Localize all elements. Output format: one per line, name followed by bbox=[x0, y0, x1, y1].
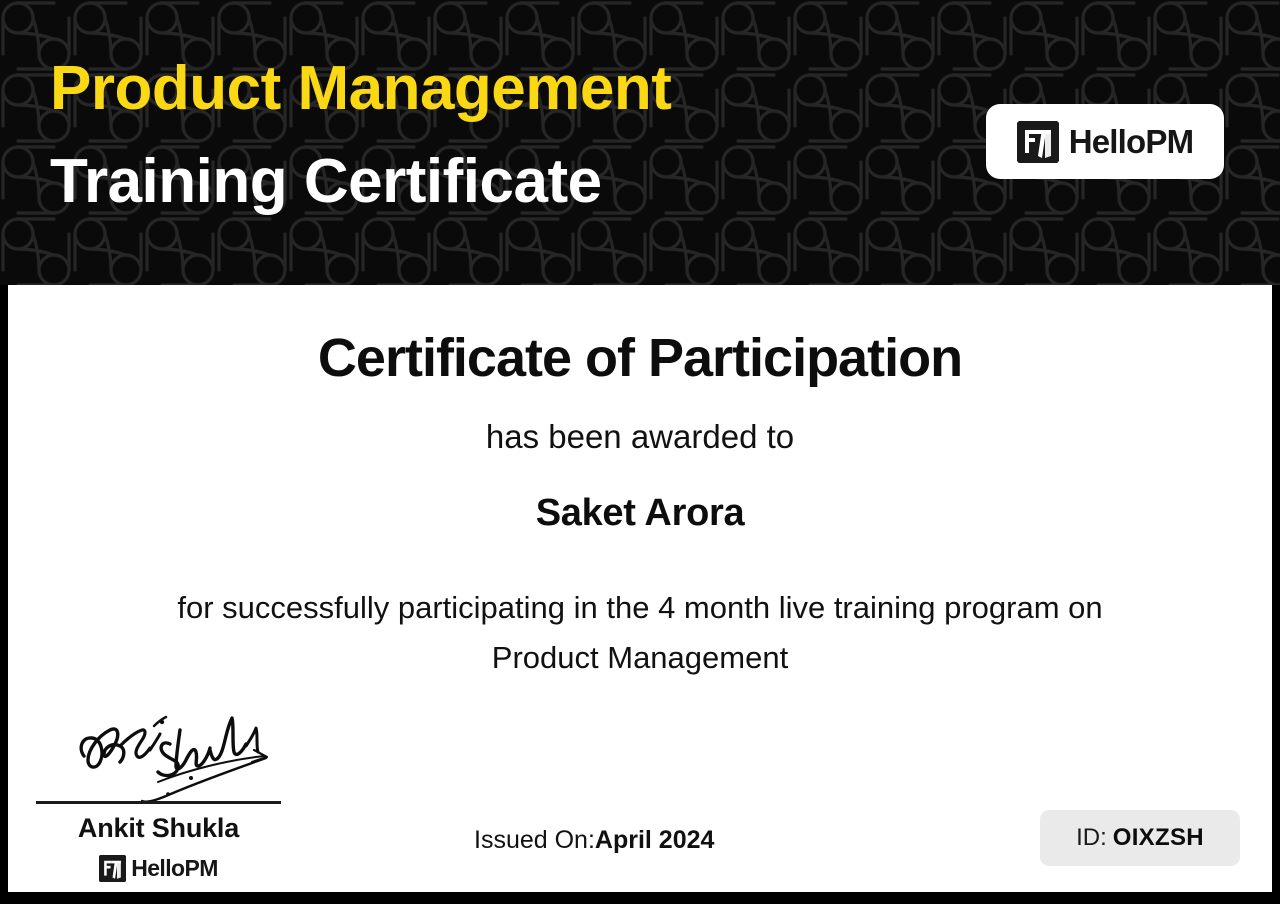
certificate-header: Product Management Training Certificate … bbox=[0, 0, 1280, 285]
certificate-id-value: OIXZSH bbox=[1113, 824, 1204, 852]
page-title: Certificate of Participation bbox=[8, 327, 1272, 389]
certificate-container: Product Management Training Certificate … bbox=[0, 0, 1280, 904]
handwritten-signature-icon bbox=[58, 704, 278, 804]
certificate-title: Product Management Training Certificate bbox=[50, 56, 671, 214]
hellopm-logo-mark-icon bbox=[1017, 121, 1059, 163]
certificate-description: for successfully participating in the 4 … bbox=[8, 583, 1272, 683]
signatory-name: Ankit Shukla bbox=[36, 813, 281, 844]
signature-brand-logo: HelloPM bbox=[36, 855, 281, 882]
issued-on-block: Issued On:April 2024 bbox=[474, 826, 714, 855]
certificate-id-label: ID: bbox=[1076, 824, 1107, 852]
title-line-training-certificate: Training Certificate bbox=[50, 149, 671, 214]
brand-logo-badge: HelloPM bbox=[986, 104, 1224, 179]
hellopm-logo-mark-icon bbox=[99, 855, 126, 882]
issued-on-label: Issued On: bbox=[474, 826, 595, 854]
signature-brand-name: HelloPM bbox=[131, 857, 218, 880]
awarded-to-label: has been awarded to bbox=[8, 418, 1272, 456]
certificate-id-badge: ID: OIXZSH bbox=[1040, 810, 1240, 866]
recipient-name: Saket Arora bbox=[8, 492, 1272, 535]
header-content: Product Management Training Certificate … bbox=[0, 0, 1280, 285]
brand-name-label: HelloPM bbox=[1069, 125, 1194, 158]
signature-divider bbox=[36, 801, 281, 804]
certificate-body: Certificate of Participation has been aw… bbox=[8, 285, 1272, 892]
title-line-product-management: Product Management bbox=[50, 56, 671, 121]
issued-on-value: April 2024 bbox=[595, 826, 715, 854]
